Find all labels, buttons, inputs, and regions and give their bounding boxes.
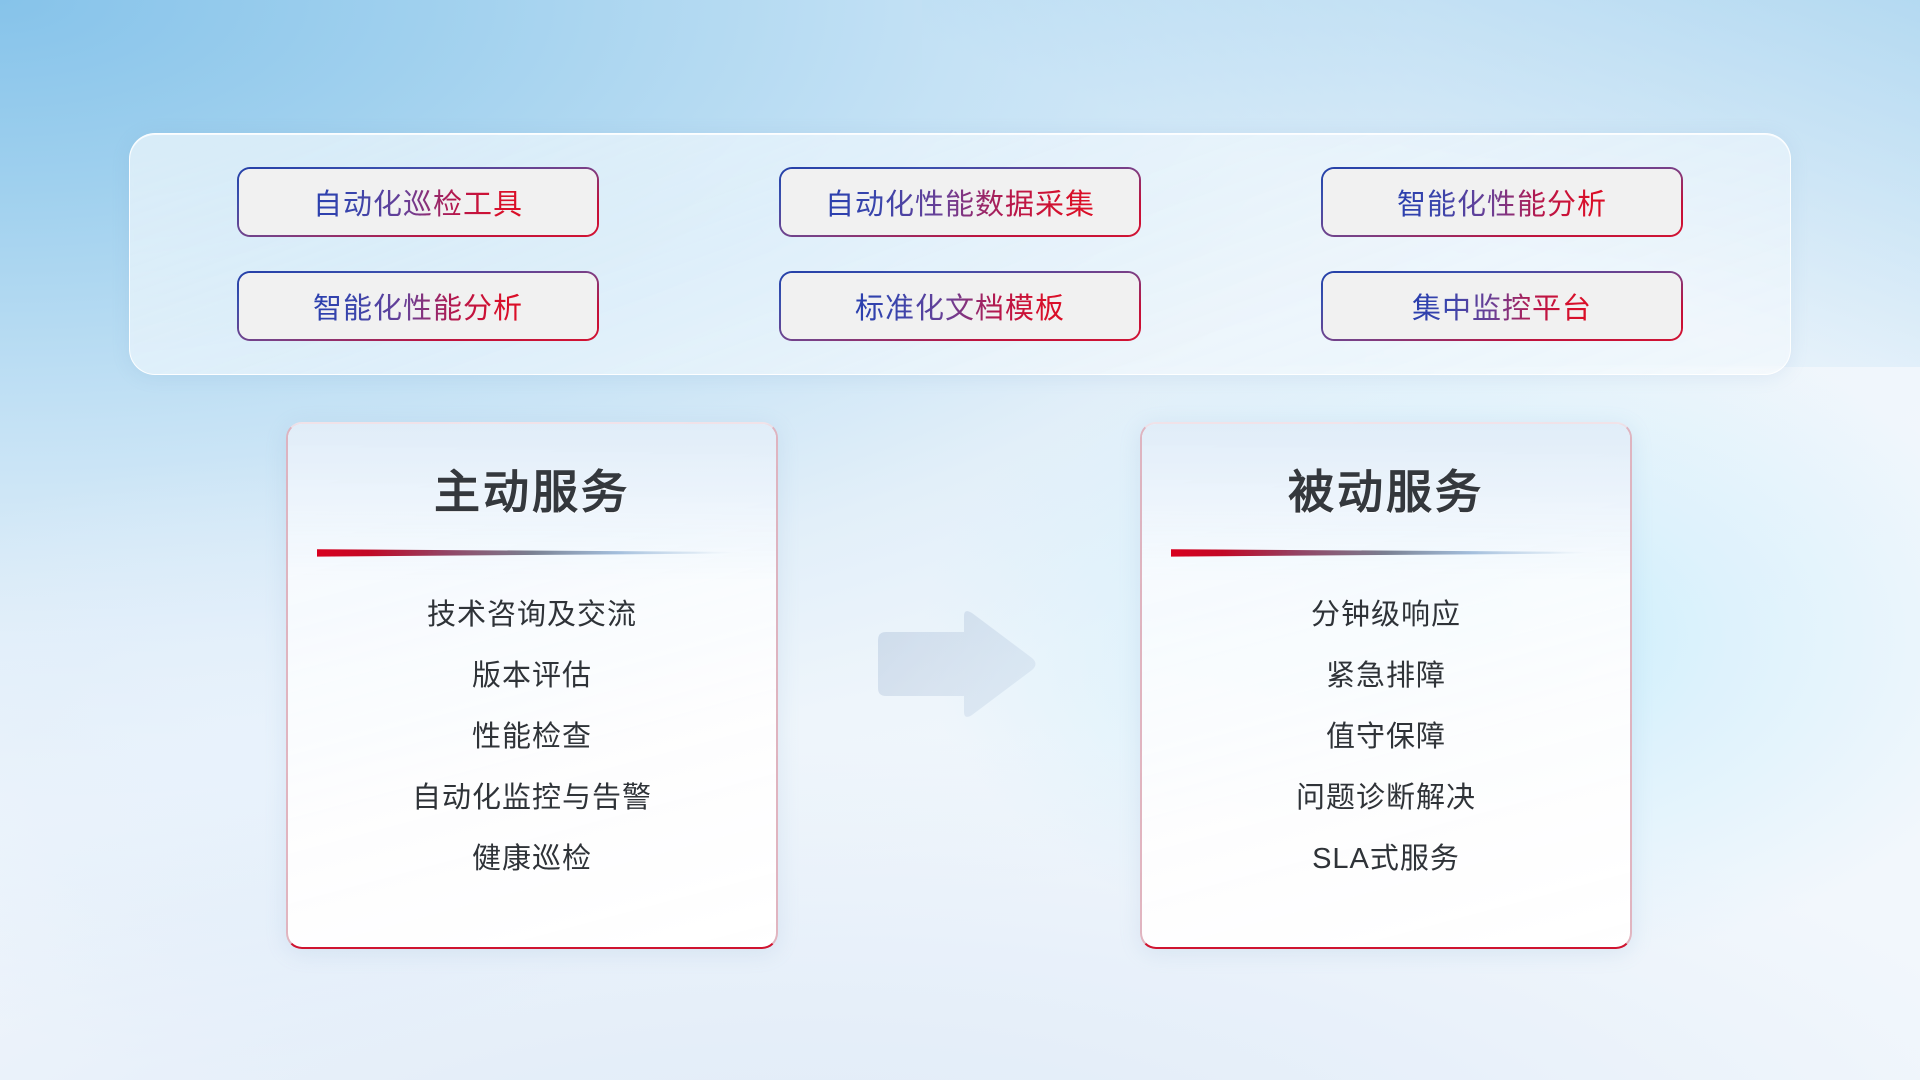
tool-button-6[interactable]: 集中监控平台	[1323, 273, 1681, 339]
card-active-list: 技术咨询及交流 版本评估 性能检查 自动化监控与告警 健康巡检	[288, 591, 776, 877]
list-item: 版本评估	[472, 652, 592, 694]
list-item: 分钟级响应	[1311, 591, 1461, 633]
list-item: 健康巡检	[472, 835, 592, 877]
capability-tools-panel: 自动化巡检工具 自动化性能数据采集 智能化性能分析 智能化性能分析 标准化文档模…	[129, 133, 1791, 375]
tool-button-6-label: 集中监控平台	[1412, 285, 1592, 327]
arrow-right-icon	[872, 608, 1037, 720]
tool-button-1[interactable]: 自动化巡检工具	[239, 169, 597, 235]
card-passive-list: 分钟级响应 紧急排障 值守保障 问题诊断解决 SLA式服务	[1142, 591, 1630, 877]
list-item: 自动化监控与告警	[412, 774, 652, 816]
list-item: 性能检查	[472, 713, 592, 755]
service-card-active: 主动服务 技术咨询及交流 版本评估 性能检查 自动化监控与告警 健康巡检	[286, 422, 778, 949]
card-passive-divider	[1171, 548, 1601, 557]
tool-button-2[interactable]: 自动化性能数据采集	[781, 169, 1139, 235]
list-item: 技术咨询及交流	[427, 591, 637, 633]
list-item: 值守保障	[1326, 713, 1446, 755]
card-active-header: 主动服务	[288, 424, 776, 522]
tool-button-5-label: 标准化文档模板	[855, 285, 1065, 327]
tool-button-3[interactable]: 智能化性能分析	[1323, 169, 1681, 235]
card-passive-header: 被动服务	[1142, 424, 1630, 522]
card-passive-title: 被动服务	[1142, 456, 1630, 522]
tool-button-2-label: 自动化性能数据采集	[825, 181, 1095, 223]
list-item: SLA式服务	[1312, 835, 1460, 877]
tool-button-5[interactable]: 标准化文档模板	[781, 273, 1139, 339]
tool-button-4[interactable]: 智能化性能分析	[239, 273, 597, 339]
tool-button-4-label: 智能化性能分析	[313, 285, 523, 327]
tool-button-3-label: 智能化性能分析	[1397, 181, 1607, 223]
tool-button-1-label: 自动化巡检工具	[313, 181, 523, 223]
card-active-divider	[317, 548, 747, 557]
list-item: 紧急排障	[1326, 652, 1446, 694]
list-item: 问题诊断解决	[1296, 774, 1476, 816]
card-active-title: 主动服务	[288, 456, 776, 522]
service-card-passive: 被动服务 分钟级响应 紧急排障 值守保障 问题诊断解决 SLA式服务	[1140, 422, 1632, 949]
